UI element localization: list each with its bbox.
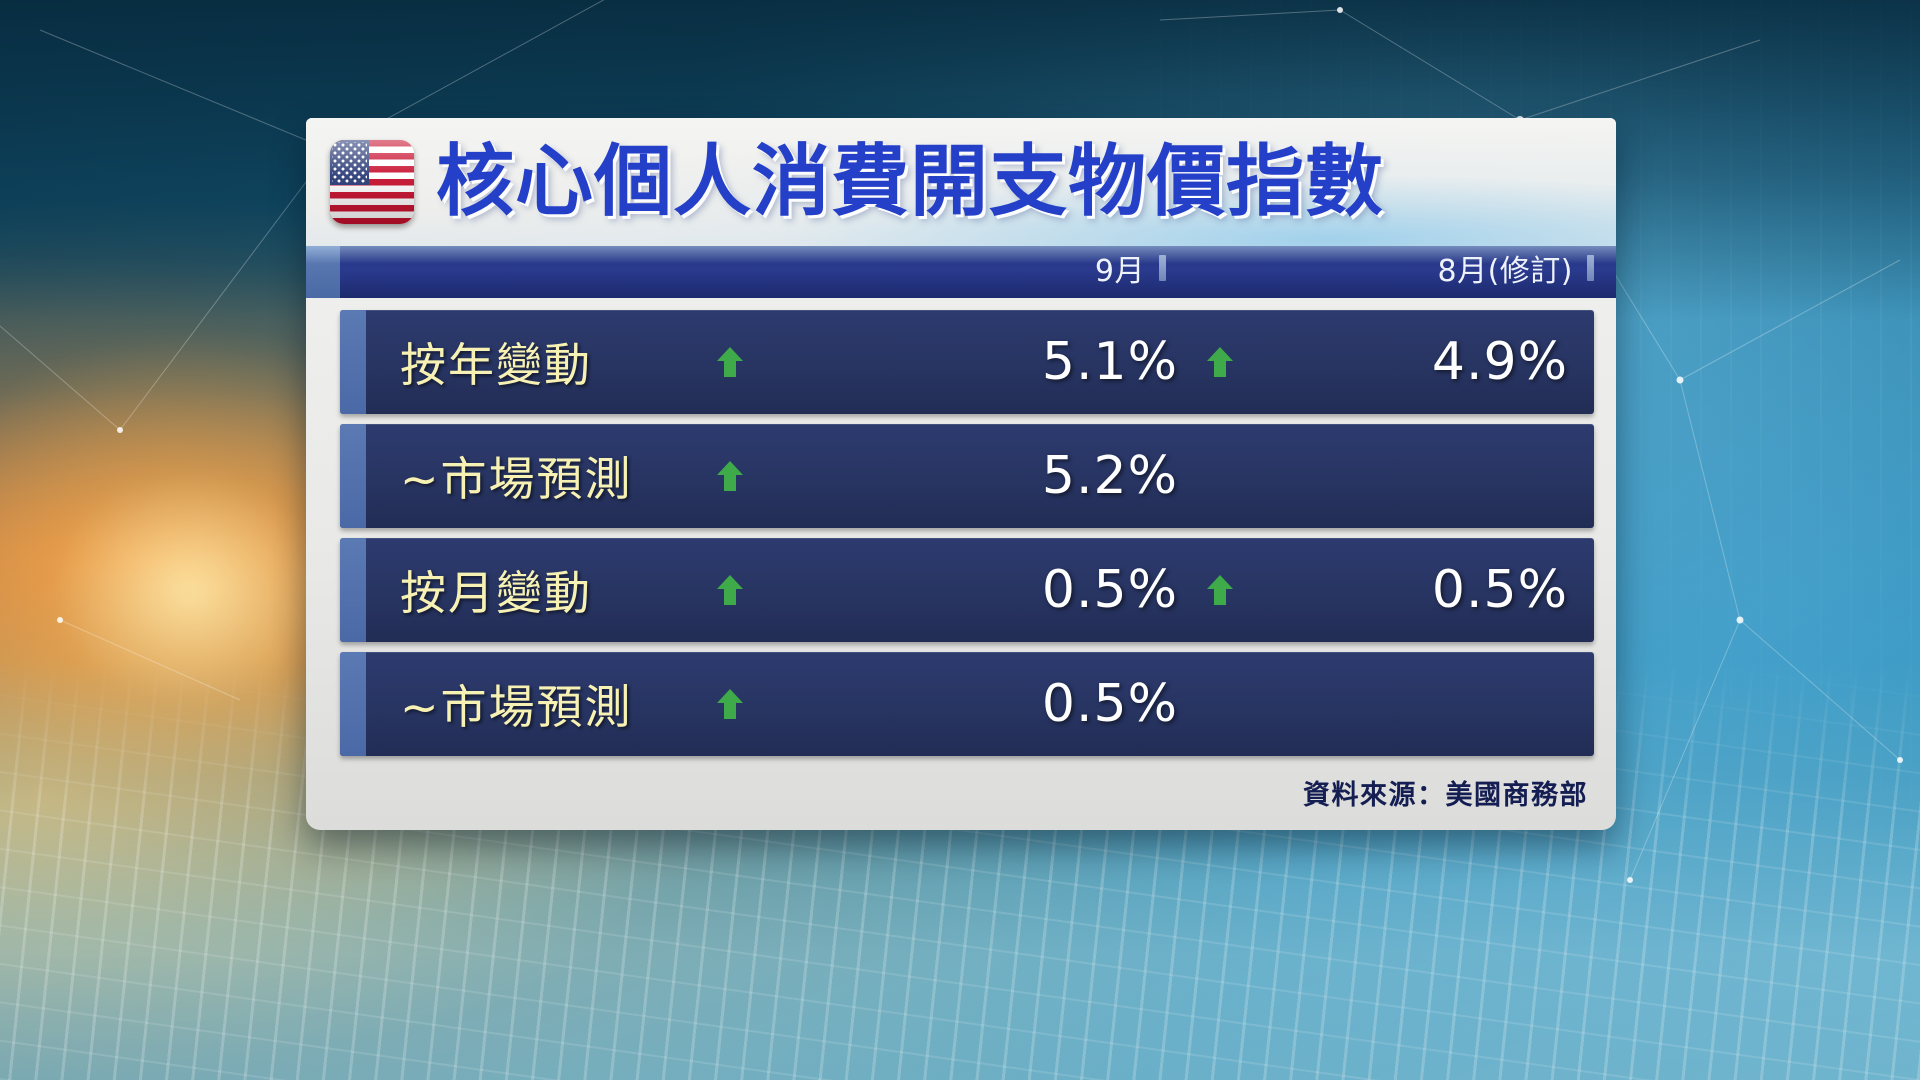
- row-label: 按年變動: [400, 329, 700, 395]
- card-title-bar: 核心個人消費開支物價指數: [306, 118, 1616, 246]
- row-cell-september: 5.2%: [730, 424, 1200, 528]
- row-cell-september: 0.5%: [730, 538, 1200, 642]
- row-cell-september: 5.1%: [730, 310, 1200, 414]
- row-value: 4.9%: [1432, 332, 1568, 392]
- row-label: 按月變動: [400, 557, 700, 623]
- row-value: 5.1%: [1042, 332, 1178, 392]
- statistics-card: 核心個人消費開支物價指數 9月 8月(修訂) 按年變動 5.1%: [306, 118, 1616, 830]
- row-cell-august-revised: 0.5%: [1220, 538, 1590, 642]
- source-attribution: 資料來源：美國商務部: [1303, 773, 1588, 812]
- column-header-august-revised-label: 8月(修訂): [1438, 246, 1574, 290]
- row-cell-august-revised: [1220, 652, 1590, 756]
- column-header-august-revised: 8月(修訂): [1438, 246, 1595, 290]
- column-header-september: 9月: [1095, 246, 1166, 290]
- row-cell-august-revised: [1220, 424, 1590, 528]
- table-row: 按年變動 5.1% 4.9%: [340, 310, 1594, 414]
- row-cell-september: 0.5%: [730, 652, 1200, 756]
- table-row: ~市場預測 0.5%: [340, 652, 1594, 756]
- row-value: 0.5%: [1042, 560, 1178, 620]
- column-header-september-label: 9月: [1095, 246, 1145, 290]
- column-divider-tick-icon: [1159, 255, 1166, 281]
- row-value: 0.5%: [1432, 560, 1568, 620]
- data-rows: 按年變動 5.1% 4.9% ~市場預測 5.2%: [340, 310, 1594, 766]
- row-value: 0.5%: [1042, 674, 1178, 734]
- table-row: ~市場預測 5.2%: [340, 424, 1594, 528]
- table-row: 按月變動 0.5% 0.5%: [340, 538, 1594, 642]
- column-header-row: 9月 8月(修訂): [306, 246, 1616, 298]
- page-title: 核心個人消費開支物價指數: [436, 143, 1384, 221]
- row-cell-august-revised: 4.9%: [1220, 310, 1590, 414]
- us-flag-icon: [330, 140, 414, 224]
- row-label: ~市場預測: [400, 671, 700, 737]
- row-value: 5.2%: [1042, 446, 1178, 506]
- row-label: ~市場預測: [400, 443, 700, 509]
- column-divider-tick-icon: [1587, 255, 1594, 281]
- header-gloss: [306, 246, 1616, 264]
